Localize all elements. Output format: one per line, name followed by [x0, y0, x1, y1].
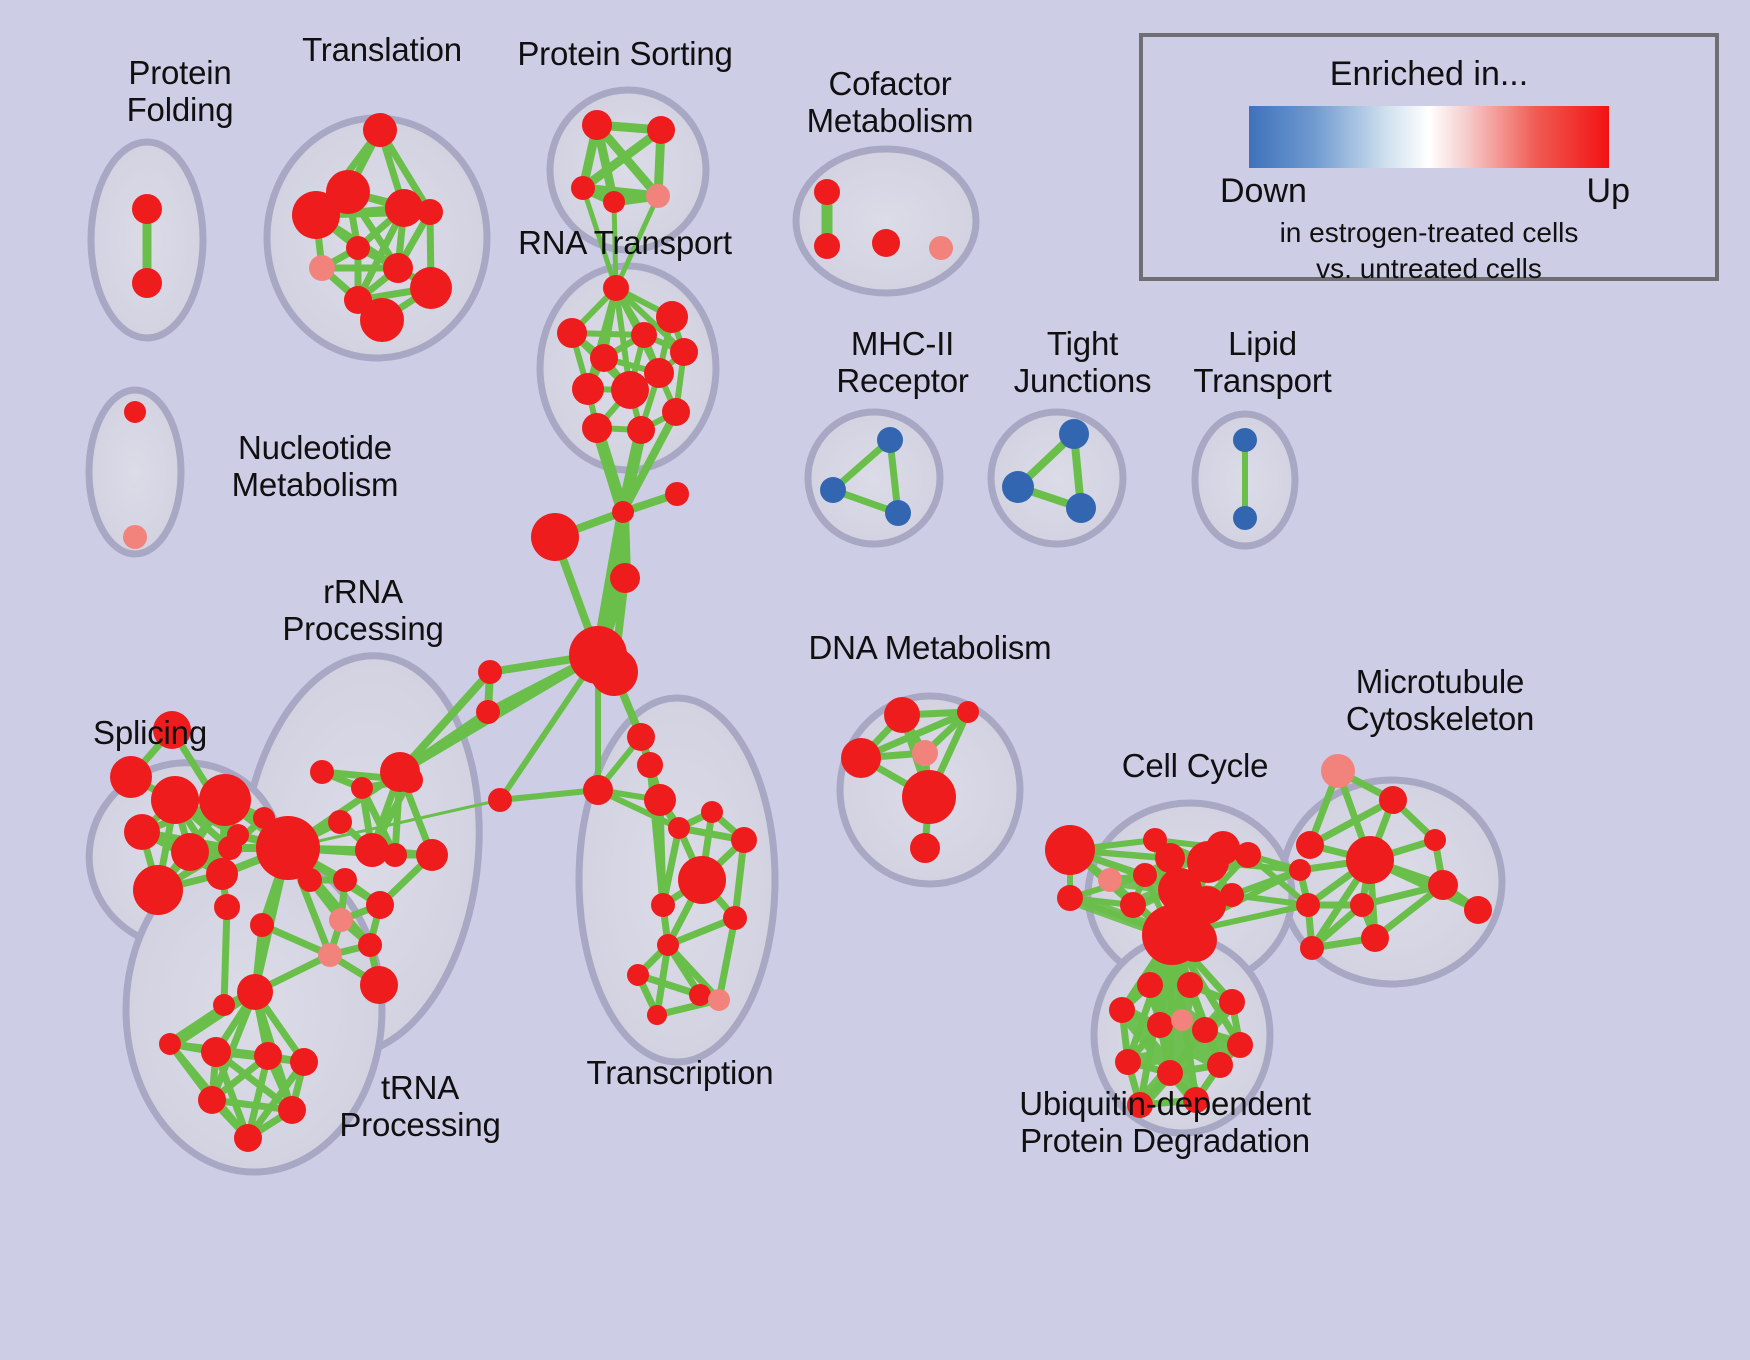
legend-up-label: Up [1587, 172, 1630, 211]
cluster-label-transcription: Transcription [555, 1055, 805, 1092]
legend-caption-line2: vs. untreated cells [1143, 252, 1715, 286]
cluster-ellipse-mhc-ii-receptor [808, 412, 940, 544]
legend-caption-line1: in estrogen-treated cells [1143, 216, 1715, 250]
legend-endpoints: Down Up [1214, 172, 1644, 214]
cluster-label-rrna-processing: rRNA Processing [248, 574, 478, 648]
cluster-label-dna-metabolism: DNA Metabolism [795, 630, 1065, 667]
cluster-label-cell-cycle: Cell Cycle [1095, 748, 1295, 785]
legend-down-label: Down [1220, 172, 1307, 211]
legend-title: Enriched in... [1143, 55, 1715, 94]
cluster-label-splicing: Splicing [55, 715, 245, 752]
cluster-label-ubiquitin: Ubiquitin-dependent Protein Degradation [955, 1086, 1375, 1160]
legend-box: Enriched in... Down Up in estrogen-treat… [1139, 33, 1719, 281]
cluster-label-cofactor-metabolism: Cofactor Metabolism [775, 66, 1005, 140]
cluster-label-protein-folding: Protein Folding [80, 55, 280, 129]
cluster-label-translation: Translation [272, 32, 492, 69]
cluster-label-trna-processing: tRNA Processing [305, 1070, 535, 1144]
cluster-label-protein-sorting: Protein Sorting [500, 36, 750, 73]
cluster-label-nucleotide-metabolism: Nucleotide Metabolism [190, 430, 440, 504]
legend-colorbar [1249, 106, 1609, 168]
cluster-label-rna-transport: RNA Transport [500, 225, 750, 262]
cluster-label-lipid-transport: Lipid Transport [1155, 326, 1370, 400]
network-figure: Protein Folding Translation Protein Sort… [0, 0, 1750, 1360]
cluster-label-microtubule-cytoskeleton: Microtubule Cytoskeleton [1295, 664, 1585, 738]
